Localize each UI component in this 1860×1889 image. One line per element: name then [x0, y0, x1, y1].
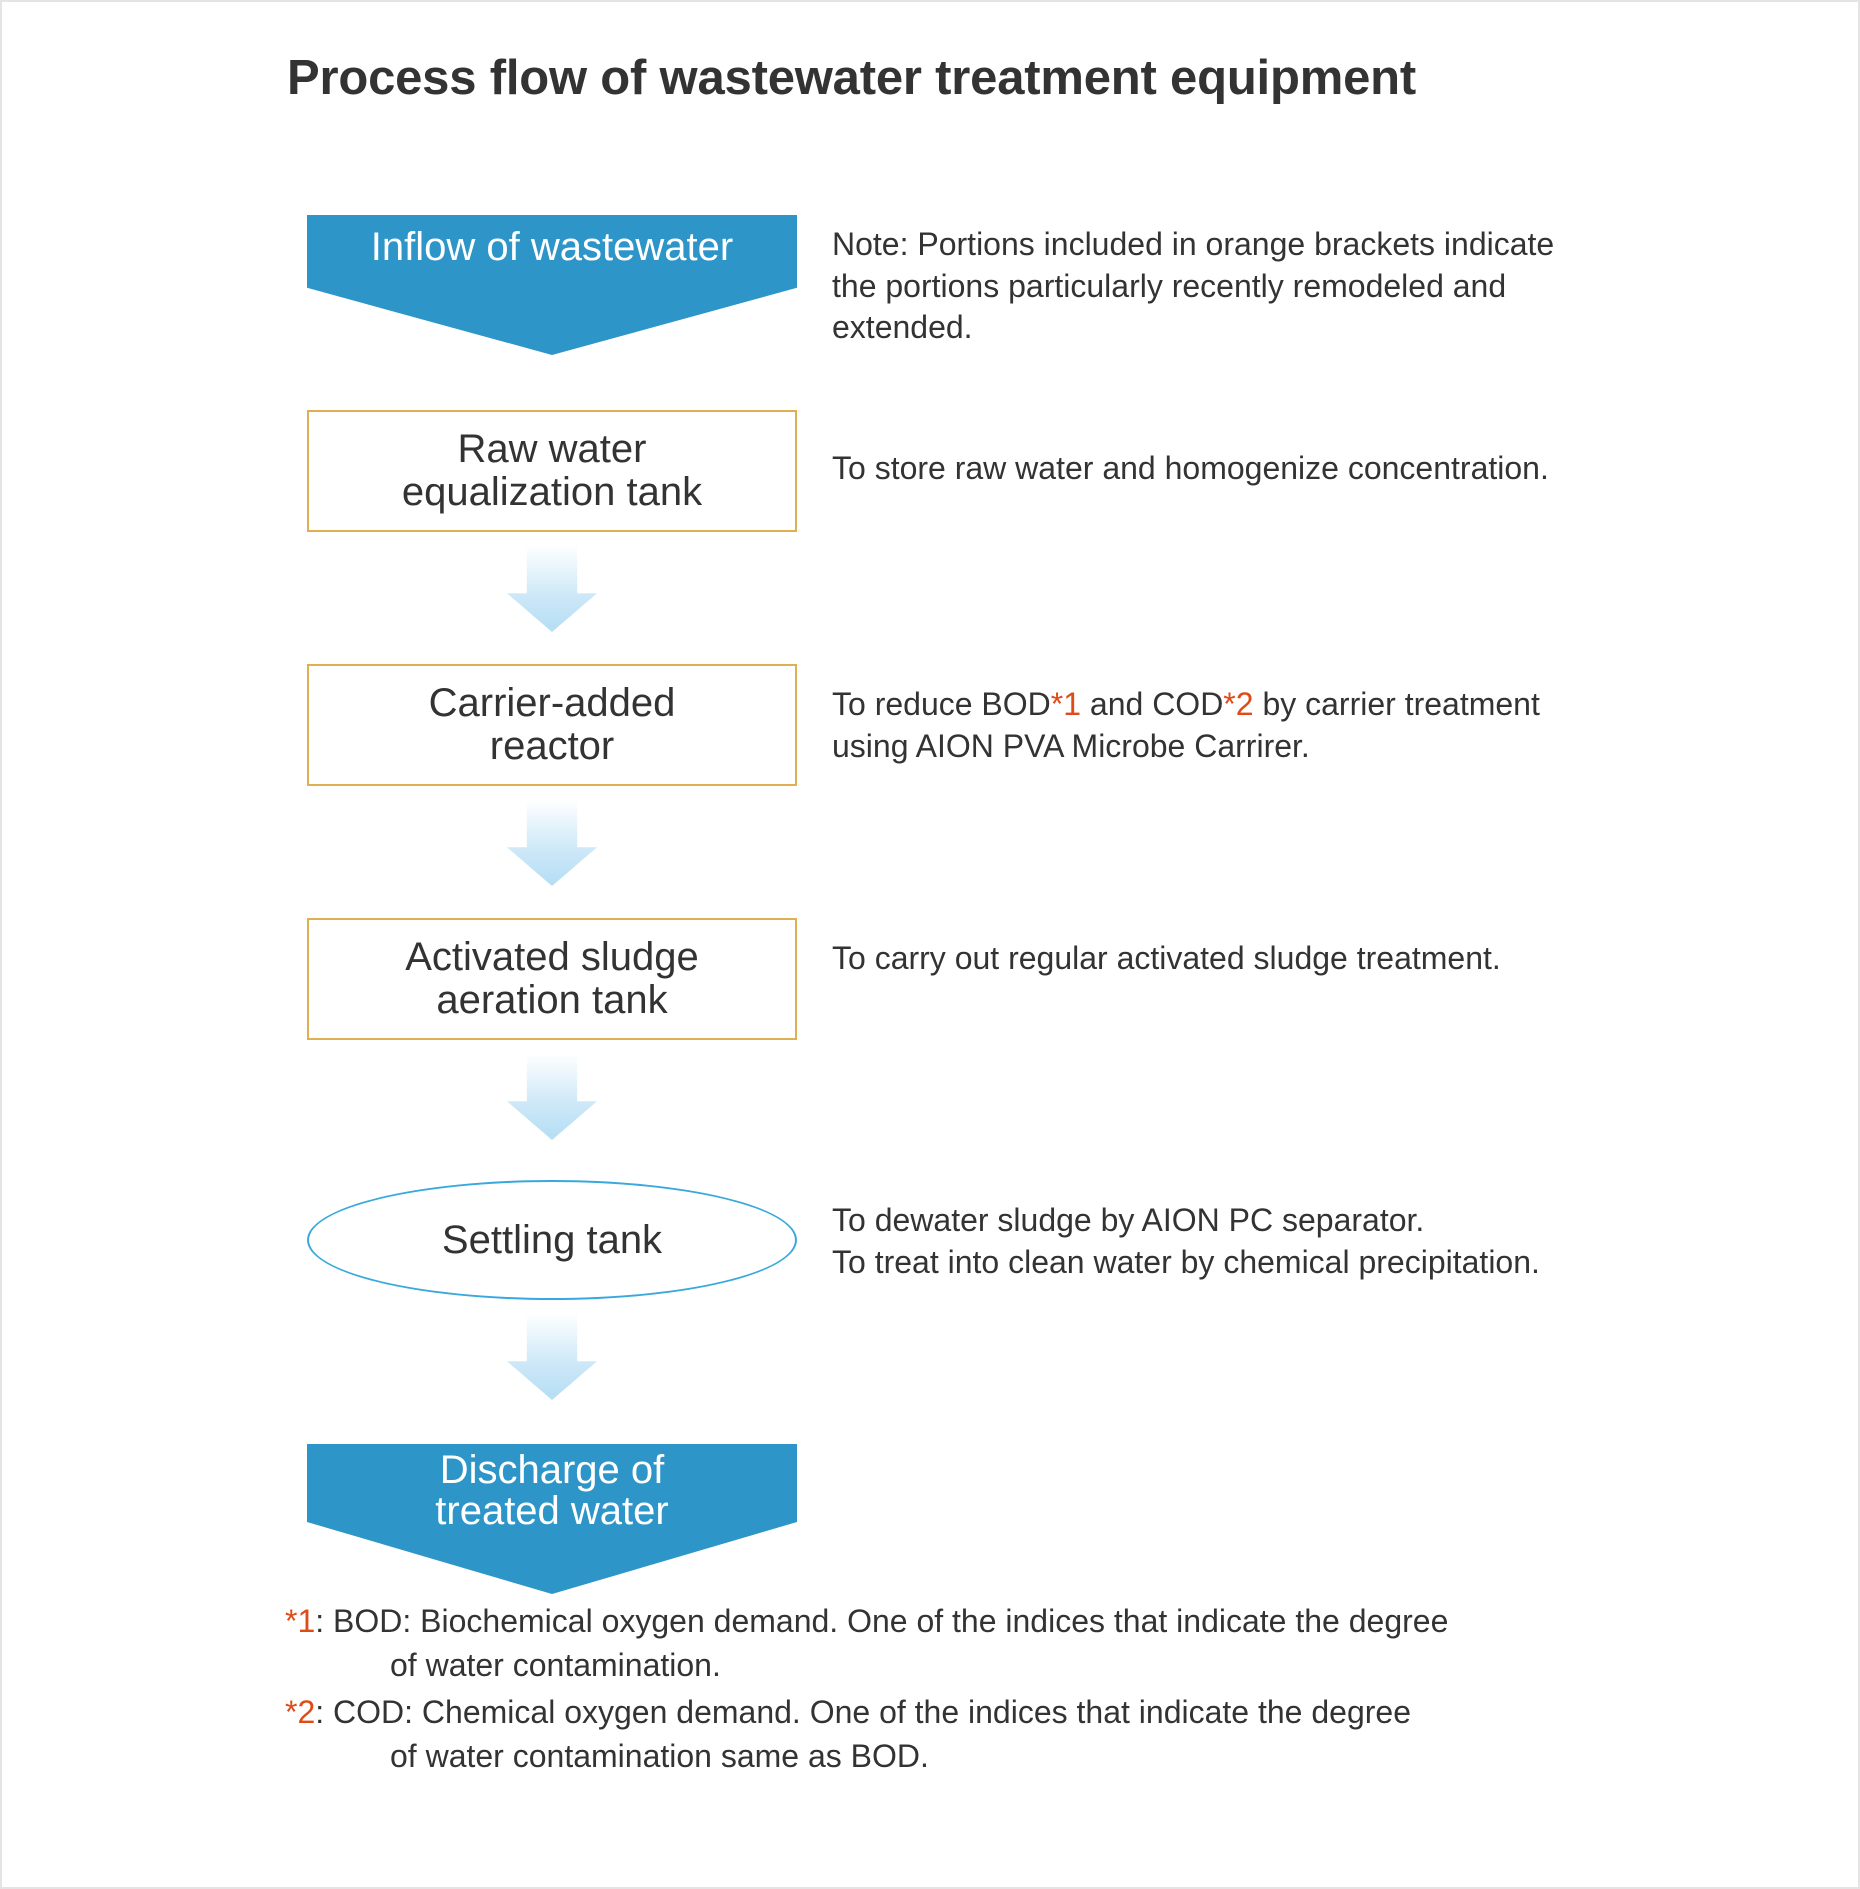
flow-node-settling-tank: Settling tank	[307, 1180, 797, 1300]
footnote-text-line-2: of water contamination.	[285, 1644, 1585, 1688]
footnote-text-line-1: : BOD: Biochemical oxygen demand. One of…	[315, 1603, 1448, 1639]
aeration-tank-label: Activated sludge aeration tank	[405, 936, 699, 1022]
carrier-desc-line-2: using AION PVA Microbe Carrirer.	[832, 728, 1310, 764]
aeration-tank-description: To carry out regular activated sludge tr…	[832, 938, 1572, 980]
inflow-banner-label: Inflow of wastewater	[307, 215, 797, 268]
carrier-reactor-description: To reduce BOD*1 and COD*2 by carrier tre…	[832, 684, 1572, 767]
carrier-desc-part-3: by carrier treatment	[1254, 686, 1540, 722]
diagram-canvas: Process flow of wastewater treatment equ…	[0, 0, 1860, 1889]
footnote-marker: *2	[285, 1694, 315, 1730]
carrier-desc-part-1: To reduce BOD	[832, 686, 1051, 722]
footnote-text-line-2: of water contamination same as BOD.	[285, 1735, 1585, 1779]
page-title: Process flow of wastewater treatment equ…	[287, 50, 1416, 106]
discharge-banner-label: Discharge of treated water	[307, 1444, 797, 1532]
flow-node-carrier-added-reactor: Carrier-added reactor	[307, 664, 797, 786]
flow-node-raw-water-equalization-tank: Raw water equalization tank	[307, 410, 797, 532]
flow-node-inflow-of-wastewater: Inflow of wastewater	[307, 215, 797, 355]
arrow-down-icon	[507, 1314, 597, 1400]
footnote-item: *2: COD: Chemical oxygen demand. One of …	[285, 1691, 1585, 1778]
flow-node-discharge-of-treated-water: Discharge of treated water	[307, 1444, 797, 1594]
footnote-marker: *1	[285, 1603, 315, 1639]
footnotes-block: *1: BOD: Biochemical oxygen demand. One …	[285, 1600, 1585, 1782]
flow-node-activated-sludge-aeration-tank: Activated sludge aeration tank	[307, 918, 797, 1040]
footnote-item: *1: BOD: Biochemical oxygen demand. One …	[285, 1600, 1585, 1687]
carrier-reactor-label: Carrier-added reactor	[429, 682, 676, 768]
settling-tank-description: To dewater sludge by AION PC separator. …	[832, 1200, 1572, 1283]
raw-water-tank-label: Raw water equalization tank	[402, 428, 702, 514]
arrow-down-icon	[507, 800, 597, 886]
carrier-desc-part-2: and COD	[1081, 686, 1223, 722]
raw-water-description: To store raw water and homogenize concen…	[832, 448, 1572, 490]
settling-tank-label: Settling tank	[442, 1218, 662, 1263]
arrow-down-icon	[507, 546, 597, 632]
footnote-ref-2: *2	[1223, 686, 1253, 722]
footnote-ref-1: *1	[1051, 686, 1081, 722]
note-text: Note: Portions included in orange bracke…	[832, 224, 1562, 349]
footnote-text-line-1: : COD: Chemical oxygen demand. One of th…	[315, 1694, 1411, 1730]
arrow-down-icon	[507, 1054, 597, 1140]
